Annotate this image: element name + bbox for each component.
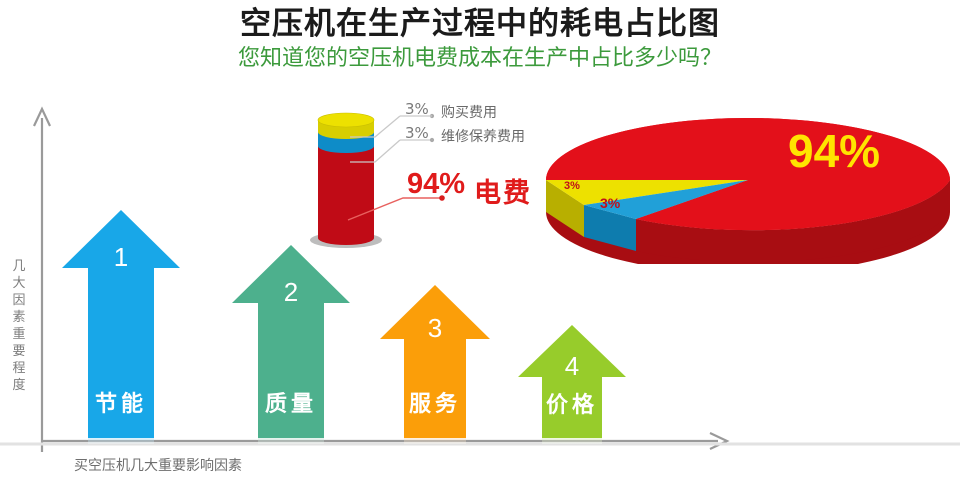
callout-pct-electricity: 94% — [407, 168, 465, 201]
callout-text-electricity: 电费 — [474, 171, 532, 210]
leader-line-electricity — [348, 198, 440, 220]
callout-pct-maintenance: 3% — [405, 124, 429, 142]
leader-line-purchase — [350, 116, 400, 137]
pie-chart[interactable]: 94% 3% 3% — [536, 104, 960, 264]
pie-slice-label-maintenance: 3% — [600, 195, 620, 211]
leader-line-maintenance — [350, 140, 400, 162]
callout-text-purchase: 购买费用 — [441, 102, 497, 122]
callout-pct-purchase: 3% — [405, 100, 429, 118]
callout-text-maintenance: 维修保养费用 — [441, 126, 525, 146]
pie-slice-label-purchase: 3% — [564, 180, 580, 192]
pie-center-label: 94% — [788, 124, 880, 178]
leader-dot-maintenance — [430, 138, 434, 142]
